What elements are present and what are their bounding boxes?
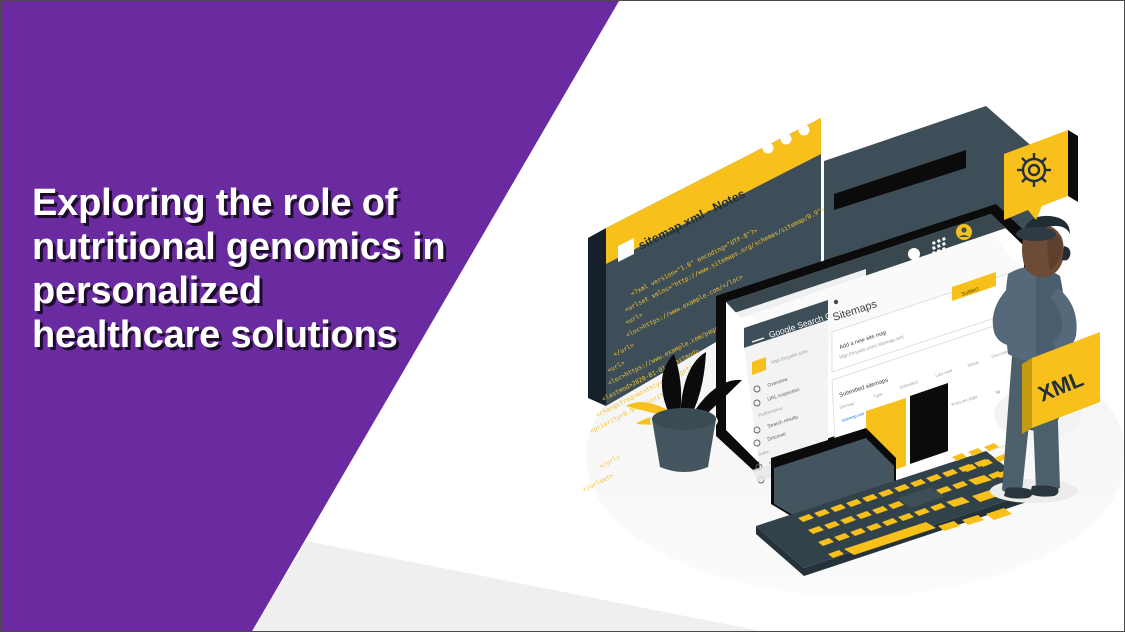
gear-icon: [1017, 153, 1051, 187]
page-title: Exploring the role of nutritional genomi…: [32, 181, 592, 357]
slide-canvas: Exploring the role of nutritional genomi…: [0, 0, 1125, 632]
illustration-isometric-sitemap-workstation: sitemap.xml - Notes <?xml version="1.0" …: [566, 106, 1125, 606]
